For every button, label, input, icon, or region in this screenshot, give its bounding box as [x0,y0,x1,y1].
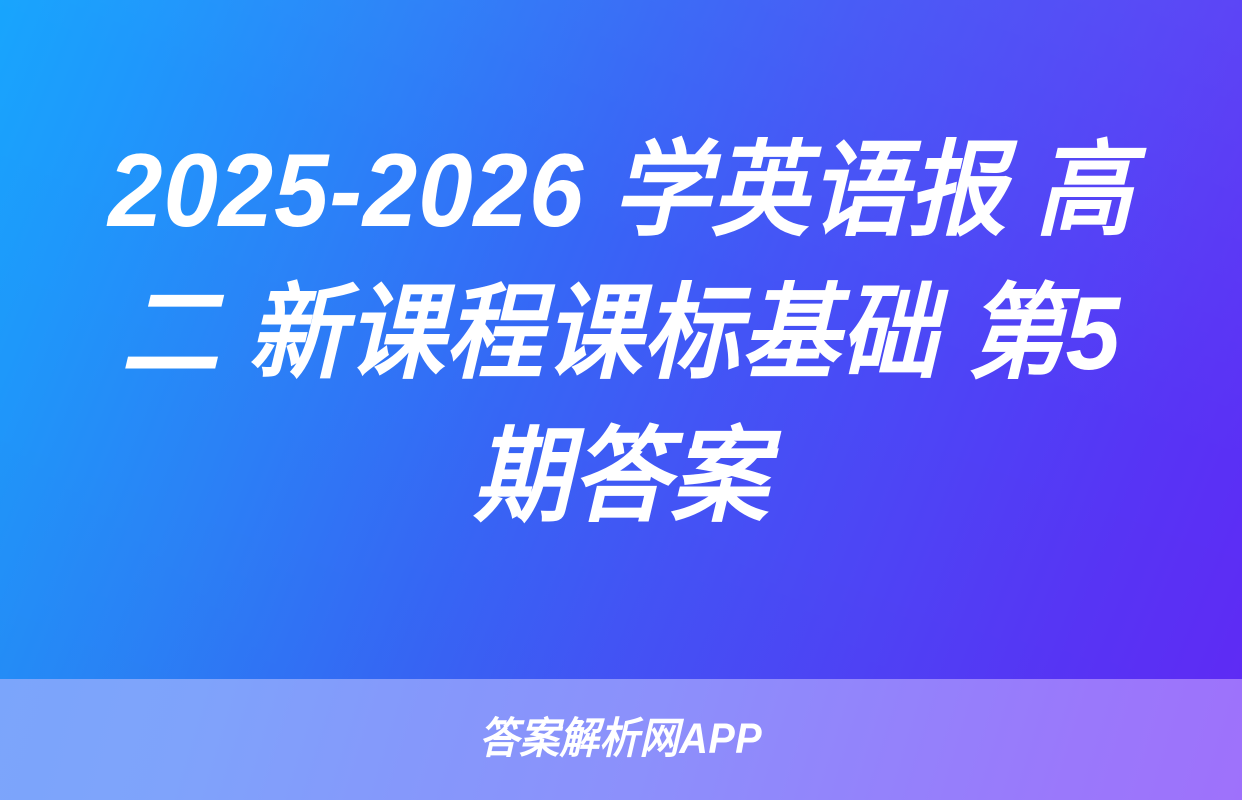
answer-poster-card: 2025-2026 学英语报 高二 新课程课标基础 第5期答案 答案解析网APP [0,0,1242,800]
app-brand-watermark: 答案解析网APP [480,718,763,761]
page-title: 2025-2026 学英语报 高二 新课程课标基础 第5期答案 [99,120,1142,559]
hero-gradient-panel: 2025-2026 学英语报 高二 新课程课标基础 第5期答案 [0,0,1242,679]
app-watermark-band: 答案解析网APP [0,679,1242,800]
